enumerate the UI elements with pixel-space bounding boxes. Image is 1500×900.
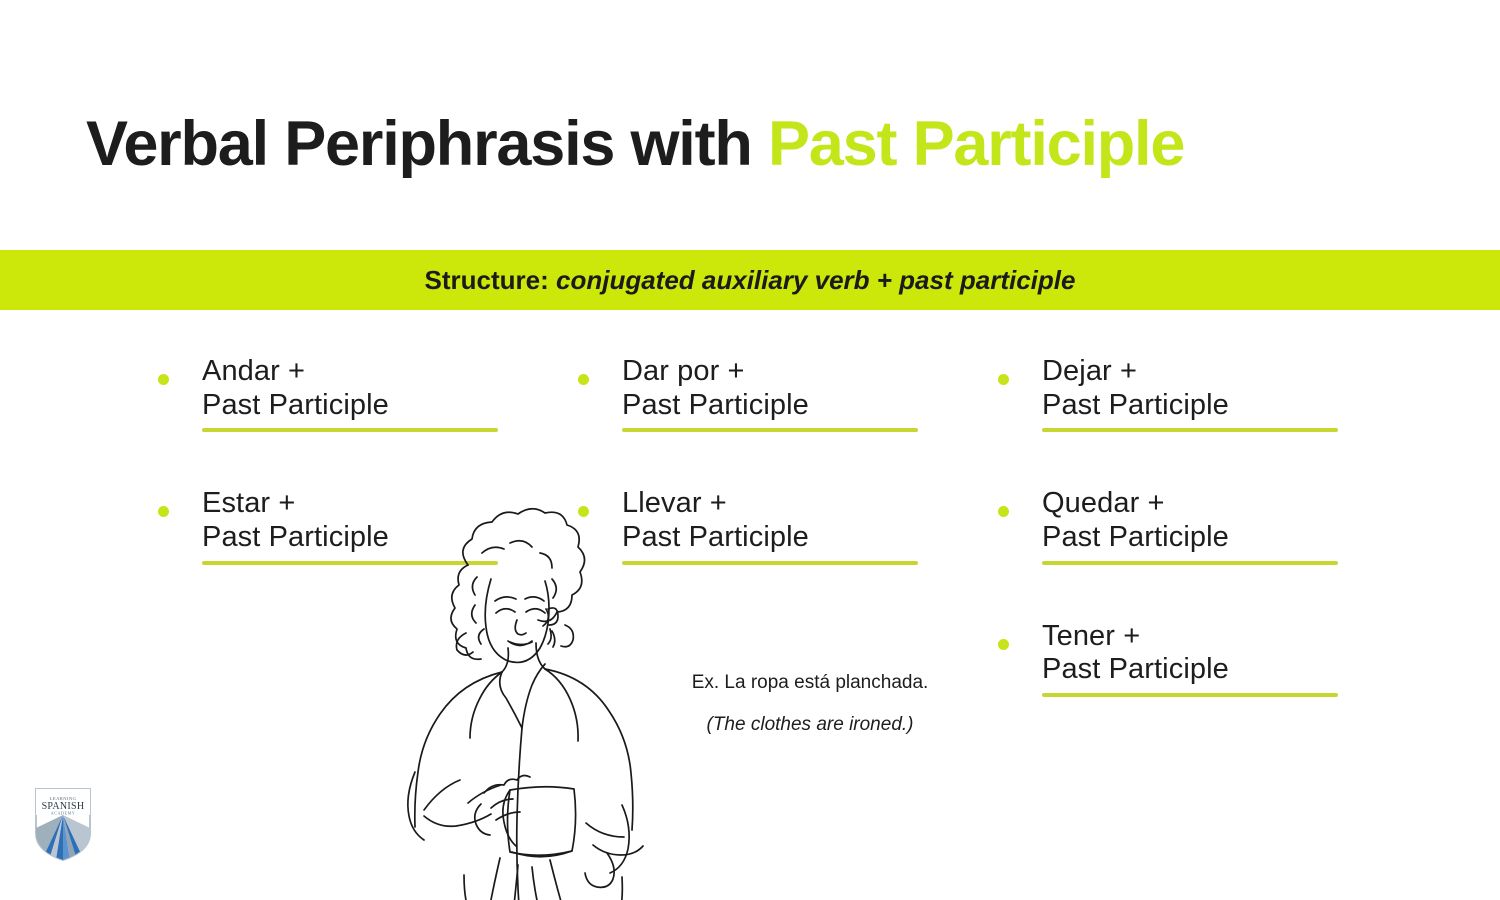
bullet-dot-icon bbox=[158, 374, 169, 385]
slide-root: Verbal Periphrasis with Past Participle … bbox=[0, 0, 1500, 900]
list-item[interactable]: Dar por + Past Participle bbox=[570, 355, 990, 432]
example-english: (The clothes are ironed.) bbox=[620, 714, 1000, 737]
periphrasis-column-2: Dar por + Past Participle Llevar + Past … bbox=[570, 355, 990, 613]
structure-label: Structure: bbox=[425, 265, 556, 295]
list-item-underline bbox=[1042, 428, 1338, 432]
list-item-label: Estar + Past Participle bbox=[202, 487, 570, 554]
example-block: Ex. La ropa está planchada. (The clothes… bbox=[620, 672, 1000, 737]
list-item[interactable]: Estar + Past Participle bbox=[150, 487, 570, 564]
periphrasis-column-1: Andar + Past Participle Estar + Past Par… bbox=[150, 355, 570, 613]
list-item-label: Quedar + Past Participle bbox=[1042, 487, 1410, 554]
spanish-academy-logo: LEARNING SPANISH ACADEMY bbox=[32, 785, 94, 863]
page-title: Verbal Periphrasis with Past Participle bbox=[86, 112, 1426, 176]
page-title-main: Verbal Periphrasis with bbox=[86, 109, 768, 179]
list-item-underline bbox=[622, 428, 918, 432]
structure-formula: conjugated auxiliary verb + past partici… bbox=[556, 265, 1075, 295]
page-title-accent: Past Participle bbox=[768, 109, 1184, 179]
bullet-dot-icon bbox=[998, 639, 1009, 650]
bullet-dot-icon bbox=[998, 506, 1009, 517]
list-item-underline bbox=[1042, 693, 1338, 697]
list-item-label: Dar por + Past Participle bbox=[622, 355, 990, 422]
example-spanish: Ex. La ropa está planchada. bbox=[620, 672, 1000, 695]
list-item-label: Llevar + Past Participle bbox=[622, 487, 990, 554]
bullet-dot-icon bbox=[578, 506, 589, 517]
list-item[interactable]: Dejar + Past Participle bbox=[990, 355, 1410, 432]
list-item[interactable]: Andar + Past Participle bbox=[150, 355, 570, 432]
periphrasis-column-3: Dejar + Past Participle Quedar + Past Pa… bbox=[990, 355, 1410, 745]
list-item-label: Tener + Past Participle bbox=[1042, 620, 1410, 687]
structure-banner: Structure: conjugated auxiliary verb + p… bbox=[0, 250, 1500, 310]
list-item[interactable]: Tener + Past Participle bbox=[990, 620, 1410, 697]
bullet-dot-icon bbox=[998, 374, 1009, 385]
list-item-underline bbox=[202, 561, 498, 565]
list-item[interactable]: Quedar + Past Participle bbox=[990, 487, 1410, 564]
logo-bottom-text: ACADEMY bbox=[51, 811, 76, 816]
list-item-underline bbox=[202, 428, 498, 432]
structure-text: Structure: conjugated auxiliary verb + p… bbox=[425, 267, 1076, 293]
list-item-label: Dejar + Past Participle bbox=[1042, 355, 1410, 422]
list-item-underline bbox=[1042, 561, 1338, 565]
bullet-dot-icon bbox=[158, 506, 169, 517]
bullet-dot-icon bbox=[578, 374, 589, 385]
list-item-underline bbox=[622, 561, 918, 565]
list-item-label: Andar + Past Participle bbox=[202, 355, 570, 422]
list-item[interactable]: Llevar + Past Participle bbox=[570, 487, 990, 564]
